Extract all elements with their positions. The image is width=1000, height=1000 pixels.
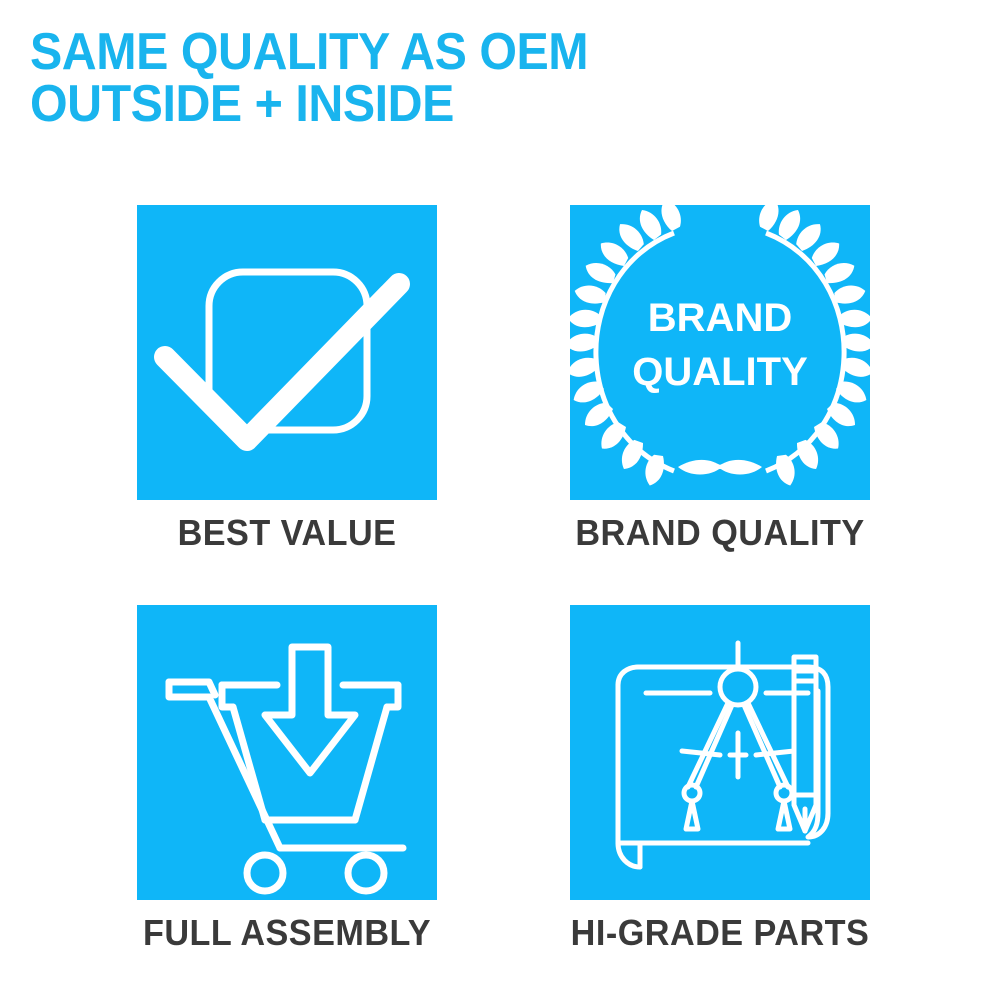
feature-grid: BEST VALUE <box>0 0 1000 1000</box>
blueprint-compass-pencil-icon <box>570 605 870 900</box>
feature-label: BEST VALUE <box>145 512 430 554</box>
feature-label: BRAND QUALITY <box>566 512 874 554</box>
feature-label: HI-GRADE PARTS <box>566 912 874 954</box>
feature-card-brand-quality[interactable]: BRAND QUALITY BRAND QUALITY <box>570 205 870 554</box>
laurel-wreath-icon: BRAND QUALITY <box>570 205 870 500</box>
feature-card-hi-grade-parts[interactable]: HI-GRADE PARTS <box>570 605 870 954</box>
feature-card-full-assembly[interactable]: FULL ASSEMBLY <box>137 605 437 954</box>
feature-icon-tile: BRAND QUALITY <box>570 205 870 500</box>
feature-label: FULL ASSEMBLY <box>135 912 439 954</box>
wreath-text-line-2: QUALITY <box>632 350 808 394</box>
feature-icon-tile <box>137 605 437 900</box>
shopping-cart-download-icon <box>137 605 437 900</box>
feature-card-best-value[interactable]: BEST VALUE <box>137 205 437 554</box>
feature-icon-tile <box>570 605 870 900</box>
checkbox-check-icon <box>137 205 437 500</box>
wreath-text-line-1: BRAND <box>648 296 792 340</box>
feature-icon-tile <box>137 205 437 500</box>
